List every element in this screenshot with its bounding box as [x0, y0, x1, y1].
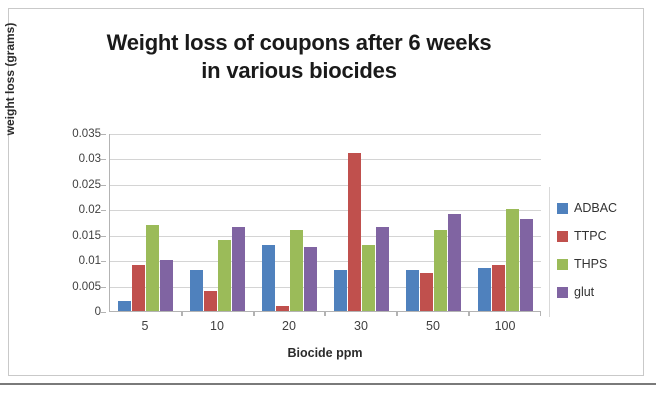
legend-label: glut — [574, 285, 594, 299]
bar-group — [469, 134, 541, 311]
bar-thps-5 — [146, 225, 159, 311]
legend-label: THPS — [574, 257, 607, 271]
x-axis-tick-mark — [254, 311, 255, 316]
bar-adbac-20 — [262, 245, 275, 311]
legend-divider — [549, 187, 550, 317]
legend-swatch-icon — [557, 287, 568, 298]
y-axis-tick-label: 0.02 — [79, 204, 101, 216]
bar-adbac-5 — [118, 301, 131, 311]
bar-ttpc-20 — [276, 306, 289, 311]
y-axis-tick-label: 0.025 — [72, 179, 101, 191]
bar-ttpc-30 — [348, 153, 361, 311]
bar-glut-10 — [232, 227, 245, 311]
x-axis-tick-label: 50 — [397, 319, 469, 333]
bar-group — [110, 134, 182, 311]
chart-title-line-2: in various biocides — [49, 57, 549, 85]
plot-area — [109, 134, 541, 312]
x-axis-tick-label: 10 — [181, 319, 253, 333]
bar-groups — [110, 134, 541, 311]
chart-title-line-1: Weight loss of coupons after 6 weeks — [49, 29, 549, 57]
y-axis-tick-mark — [101, 236, 106, 237]
legend-item-ttpc[interactable]: TTPC — [557, 222, 649, 250]
bar-ttpc-100 — [492, 265, 505, 311]
chart-screenshot: Weight loss of coupons after 6 weeks in … — [0, 0, 656, 400]
y-axis-tick-label: 0.03 — [79, 153, 101, 165]
bar-adbac-50 — [406, 270, 419, 311]
bar-ttpc-5 — [132, 265, 145, 311]
bar-thps-100 — [506, 209, 519, 311]
bar-glut-20 — [304, 247, 317, 311]
y-axis-tick-label: 0.015 — [72, 230, 101, 242]
y-axis-tick-mark — [101, 312, 106, 313]
x-axis-tick-label: 20 — [253, 319, 325, 333]
y-axis-title: weight loss (grams) — [3, 0, 17, 159]
bar-thps-30 — [362, 245, 375, 311]
x-axis-tick-mark — [540, 311, 541, 316]
bar-group — [397, 134, 469, 311]
x-axis-tick-label: 100 — [469, 319, 541, 333]
bar-ttpc-50 — [420, 273, 433, 311]
bar-thps-20 — [290, 230, 303, 311]
x-axis-tick-label: 5 — [109, 319, 181, 333]
bar-glut-5 — [160, 260, 173, 311]
bar-ttpc-10 — [204, 291, 217, 311]
x-axis-tick-labels: 510203050100 — [109, 319, 541, 333]
bottom-rule — [0, 383, 656, 385]
bar-group — [254, 134, 326, 311]
y-axis-tick-mark — [101, 261, 106, 262]
chart-title: Weight loss of coupons after 6 weeks in … — [49, 29, 549, 84]
bar-thps-10 — [218, 240, 231, 311]
bar-glut-50 — [448, 214, 461, 311]
legend-swatch-icon — [557, 231, 568, 242]
y-axis-tick-mark — [101, 210, 106, 211]
y-axis-tick-label: 0.035 — [72, 128, 101, 140]
legend-swatch-icon — [557, 259, 568, 270]
y-axis-tick-mark — [101, 185, 106, 186]
x-axis-tick-label: 30 — [325, 319, 397, 333]
y-axis-tick-labels: 00.0050.010.0150.020.0250.030.035 — [39, 127, 101, 319]
bar-glut-100 — [520, 219, 533, 311]
bar-adbac-10 — [190, 270, 203, 311]
chart-legend: ADBACTTPCTHPSglut — [557, 194, 649, 306]
x-axis-title: Biocide ppm — [109, 346, 541, 360]
bar-adbac-30 — [334, 270, 347, 311]
x-axis-tick-mark — [397, 311, 398, 316]
y-axis-tick-mark — [101, 287, 106, 288]
chart-container: Weight loss of coupons after 6 weeks in … — [8, 8, 644, 376]
bar-adbac-100 — [478, 268, 491, 311]
legend-item-adbac[interactable]: ADBAC — [557, 194, 649, 222]
x-axis-tick-mark — [325, 311, 326, 316]
legend-label: ADBAC — [574, 201, 617, 215]
bar-group — [325, 134, 397, 311]
x-axis-tick-mark — [469, 311, 470, 316]
bar-thps-50 — [434, 230, 447, 311]
y-axis-tick-label: 0.005 — [72, 281, 101, 293]
bar-group — [182, 134, 254, 311]
y-axis-tick-mark — [101, 159, 106, 160]
bar-glut-30 — [376, 227, 389, 311]
legend-label: TTPC — [574, 229, 607, 243]
y-axis-tick-label: 0.01 — [79, 255, 101, 267]
legend-item-glut[interactable]: glut — [557, 278, 649, 306]
x-axis-tick-mark — [182, 311, 183, 316]
legend-swatch-icon — [557, 203, 568, 214]
y-axis-tick-mark — [101, 134, 106, 135]
legend-item-thps[interactable]: THPS — [557, 250, 649, 278]
